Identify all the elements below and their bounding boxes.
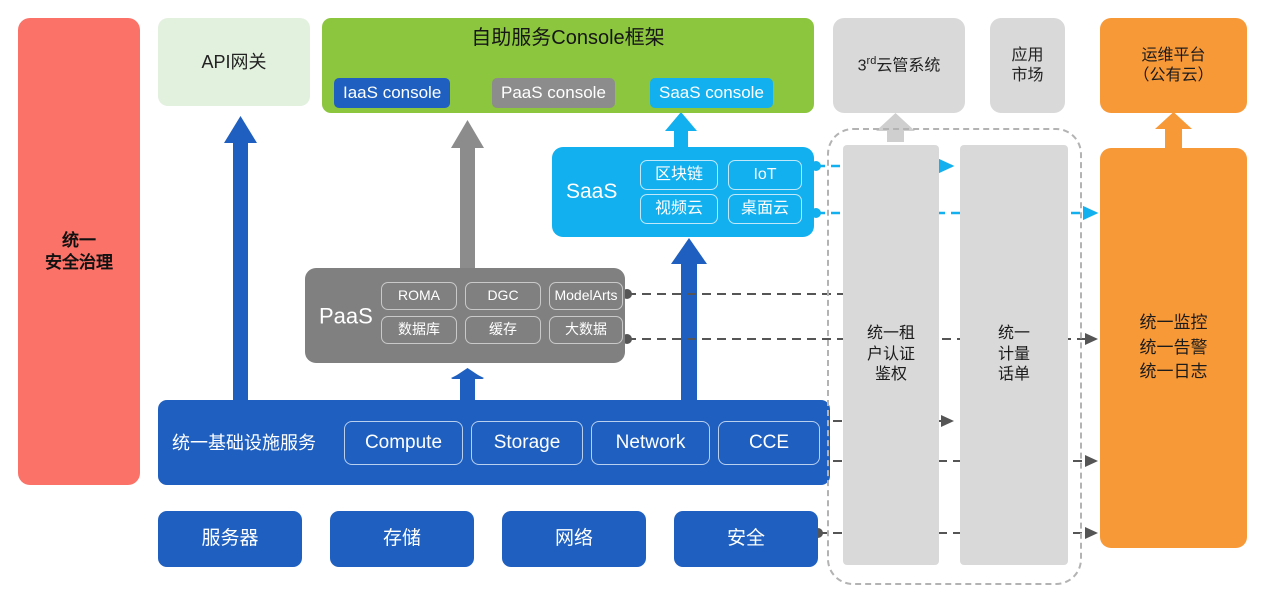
paas-layer-box[interactable]: PaaS ROMA DGC ModelArts 数据库 缓存 大数据 (305, 268, 625, 363)
unified-metering-billing-label: 统一 计量 话单 (998, 324, 1030, 386)
arrow-saas-to-saas-console (665, 112, 697, 150)
arrow-infra-to-saas (671, 238, 707, 402)
api-gateway-label: API网关 (201, 51, 266, 74)
third-party-label: 3rd云管系统 (858, 55, 941, 76)
hardware-box-storage[interactable]: 存储 (330, 511, 474, 567)
saas-chip-desktop-cloud[interactable]: 桌面云 (728, 194, 802, 224)
api-gateway-box[interactable]: API网关 (158, 18, 310, 106)
saas-layer-box[interactable]: SaaS 区块链 IoT 视频云 桌面云 (552, 147, 814, 237)
saas-chip-blockchain[interactable]: 区块链 (640, 160, 718, 190)
app-market-label: 应用 市场 (1011, 46, 1043, 86)
third-party-superscript: rd (867, 55, 877, 67)
ops-top-line-1: 运维平台 (1133, 46, 1213, 66)
paas-console-chip[interactable]: PaaS console (492, 78, 615, 108)
saas-chip-video-cloud[interactable]: 视频云 (640, 194, 718, 224)
hardware-box-security[interactable]: 安全 (674, 511, 818, 567)
third-party-prefix: 3 (858, 57, 867, 74)
app-market-line-2: 市场 (1011, 66, 1043, 86)
security-line-1: 统一 (45, 230, 113, 251)
paas-chip-roma[interactable]: ROMA (381, 282, 457, 310)
third-party-cloud-mgmt-box[interactable]: 3rd云管系统 (833, 18, 965, 113)
hardware-label-server: 服务器 (201, 527, 258, 551)
ops-right-line-3: 统一日志 (1140, 360, 1208, 385)
security-line-2: 安全治理 (45, 252, 113, 273)
auth-line-3: 鉴权 (867, 365, 915, 386)
saas-layer-label: SaaS (566, 179, 617, 205)
saas-console-chip[interactable]: SaaS console (650, 78, 773, 108)
unified-tenant-auth-column[interactable]: 统一租 户认证 鉴权 (843, 145, 939, 565)
metering-line-1: 统一 (998, 324, 1030, 345)
iaas-console-chip[interactable]: IaaS console (334, 78, 450, 108)
auth-line-2: 户认证 (867, 345, 915, 366)
saas-chip-iot[interactable]: IoT (728, 160, 802, 190)
infrastructure-label: 统一基础设施服务 (172, 431, 316, 454)
unified-security-governance-label: 统一 安全治理 (45, 230, 113, 273)
architecture-diagram-canvas: 统一 安全治理 API网关 自助服务Console框架 IaaS console… (0, 0, 1265, 605)
console-frame-title: 自助服务Console框架 (322, 26, 814, 51)
unified-monitoring-panel[interactable]: 统一监控 统一告警 统一日志 (1100, 148, 1247, 548)
unified-security-governance-panel[interactable]: 统一 安全治理 (18, 18, 140, 485)
unified-monitoring-label: 统一监控 统一告警 统一日志 (1140, 311, 1208, 385)
auth-line-1: 统一租 (867, 324, 915, 345)
arrow-infra-to-api-gateway (224, 116, 257, 400)
ops-top-label: 运维平台 （公有云） (1133, 46, 1213, 86)
infra-chip-cce[interactable]: CCE (718, 421, 820, 465)
metering-line-3: 话单 (998, 365, 1030, 386)
hardware-label-network: 网络 (555, 527, 593, 551)
paas-chip-dgc[interactable]: DGC (465, 282, 541, 310)
paas-chip-modelarts[interactable]: ModelArts (549, 282, 623, 310)
hardware-label-security: 安全 (727, 527, 765, 551)
ops-right-line-1: 统一监控 (1140, 311, 1208, 336)
third-party-rest: 云管系统 (876, 57, 940, 74)
ops-platform-public-cloud-box[interactable]: 运维平台 （公有云） (1100, 18, 1247, 113)
metering-line-2: 计量 (998, 345, 1030, 366)
unified-infrastructure-service-bar[interactable]: 统一基础设施服务 Compute Storage Network CCE (158, 400, 830, 485)
app-market-box[interactable]: 应用 市场 (990, 18, 1065, 113)
hardware-label-storage: 存储 (383, 527, 421, 551)
hardware-box-server[interactable]: 服务器 (158, 511, 302, 567)
self-service-console-frame[interactable]: 自助服务Console框架 IaaS console PaaS console … (322, 18, 814, 113)
paas-chip-cache[interactable]: 缓存 (465, 316, 541, 344)
infra-chip-compute[interactable]: Compute (344, 421, 463, 465)
paas-layer-label: PaaS (319, 302, 373, 330)
infra-chip-storage[interactable]: Storage (471, 421, 583, 465)
unified-tenant-auth-label: 统一租 户认证 鉴权 (867, 324, 915, 386)
unified-metering-billing-column[interactable]: 统一 计量 话单 (960, 145, 1068, 565)
ops-top-line-2: （公有云） (1133, 66, 1213, 86)
paas-chip-database[interactable]: 数据库 (381, 316, 457, 344)
hardware-box-network[interactable]: 网络 (502, 511, 646, 567)
app-market-line-1: 应用 (1011, 46, 1043, 66)
ops-right-line-2: 统一告警 (1140, 336, 1208, 361)
arrow-paas-to-console (451, 120, 484, 269)
arrow-ops-right-to-ops-top (1155, 112, 1192, 150)
infra-chip-network[interactable]: Network (591, 421, 710, 465)
arrow-infra-to-paas (451, 368, 484, 402)
paas-chip-bigdata[interactable]: 大数据 (549, 316, 623, 344)
